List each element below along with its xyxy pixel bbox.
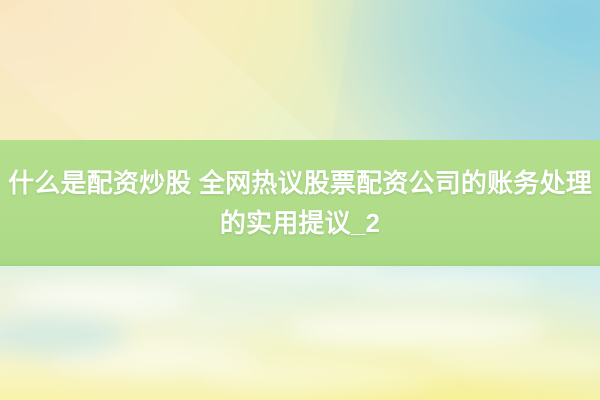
cloud-wisp: [198, 364, 438, 390]
cloud-wisp: [12, 280, 192, 314]
title-band: 什么是配资炒股 全网热议股票配资公司的账务处理的实用提议_2: [0, 140, 600, 266]
article-header-banner: 什么是配资炒股 全网热议股票配资公司的账务处理的实用提议_2: [0, 0, 600, 400]
page-title: 什么是配资炒股 全网热议股票配资公司的账务处理的实用提议_2: [0, 163, 600, 243]
cloud-wisp: [288, 312, 548, 348]
cloud-wisp: [348, 272, 538, 298]
